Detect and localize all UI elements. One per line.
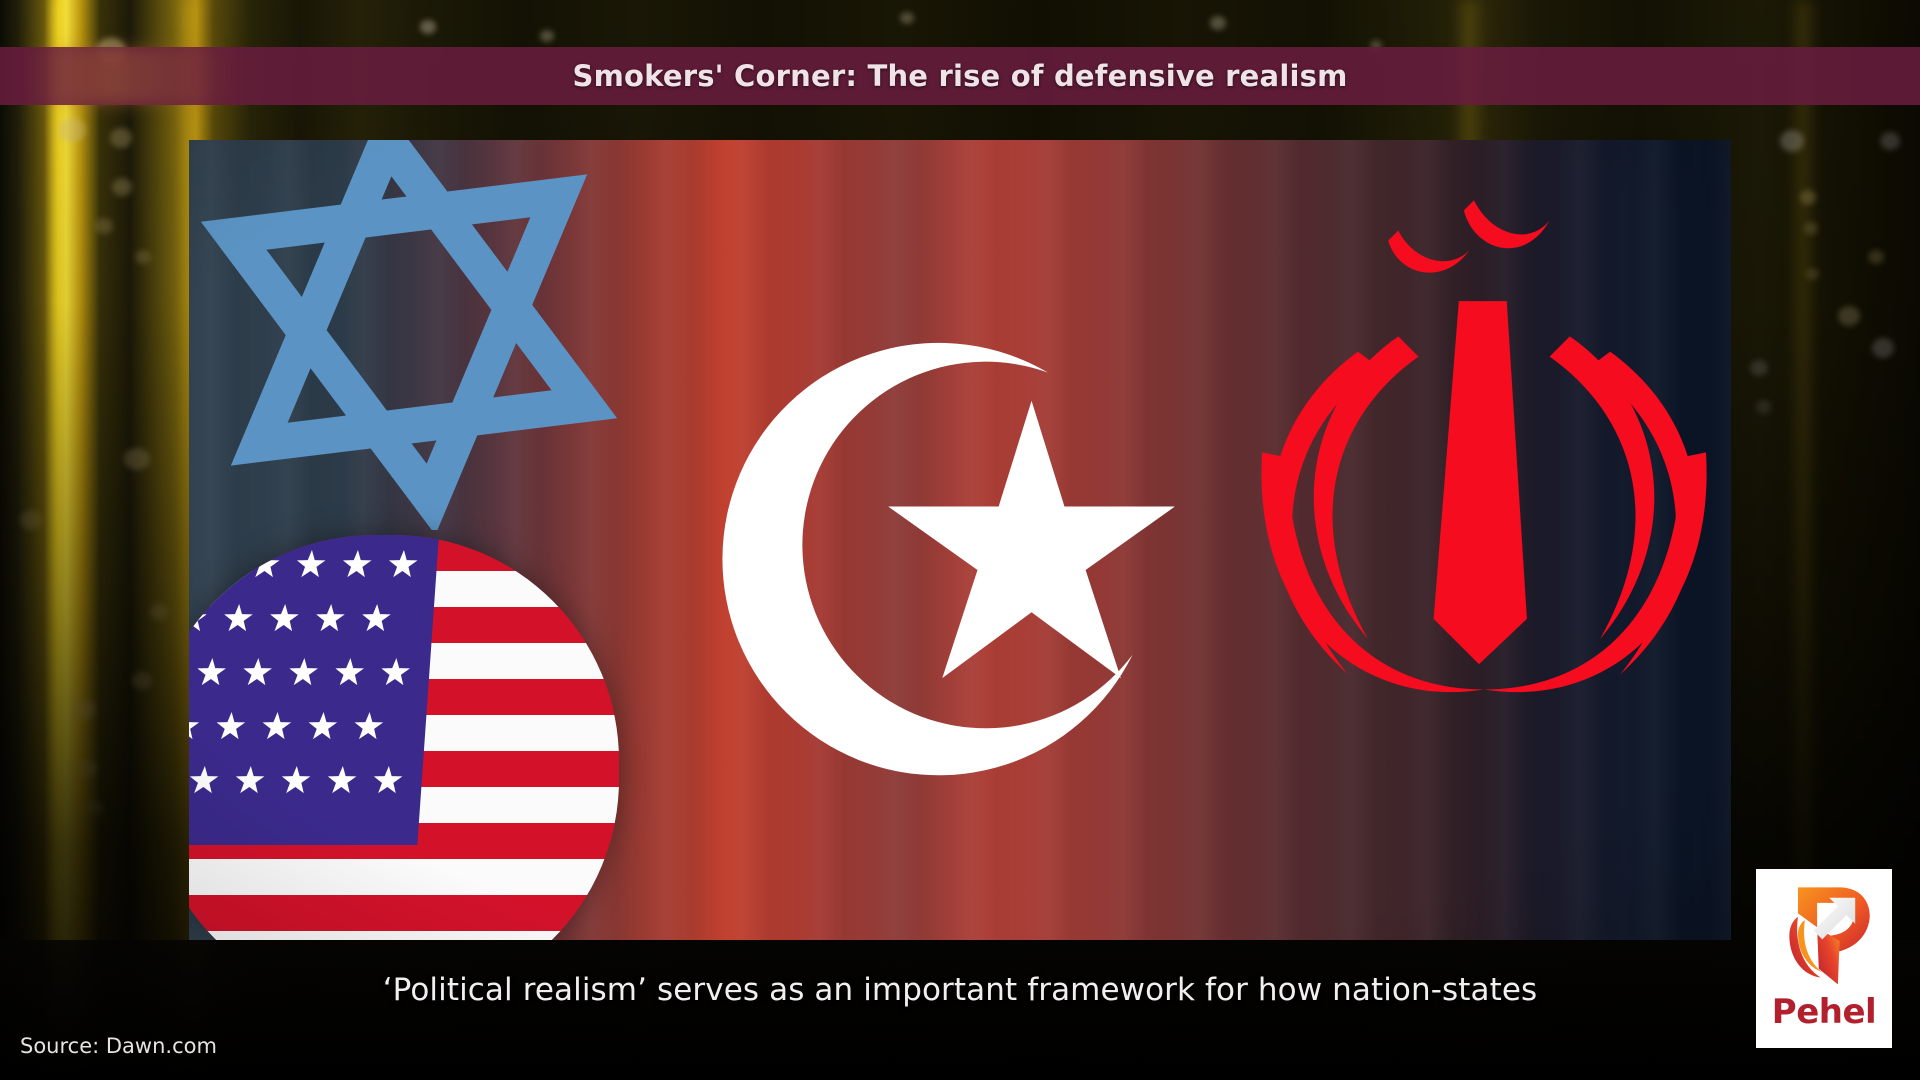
pehel-logo-wordmark: Pehel bbox=[1772, 995, 1876, 1029]
top-band bbox=[0, 0, 1920, 47]
title-bar: Smokers' Corner: The rise of defensive r… bbox=[0, 47, 1920, 105]
screenshot-stage: Smokers' Corner: The rise of defensive r… bbox=[0, 0, 1920, 1080]
page-title: Smokers' Corner: The rise of defensive r… bbox=[573, 59, 1348, 93]
image-caption: ‘Political realism’ serves as an importa… bbox=[0, 972, 1920, 1008]
source-label: Source: Dawn.com bbox=[20, 1034, 217, 1058]
image-vignette bbox=[189, 140, 1731, 940]
pehel-logo: Pehel bbox=[1756, 869, 1892, 1048]
bottom-band bbox=[0, 940, 1920, 1080]
title-bar-glow bbox=[30, 47, 230, 105]
article-image bbox=[189, 140, 1731, 940]
pehel-logo-mark bbox=[1772, 877, 1876, 993]
